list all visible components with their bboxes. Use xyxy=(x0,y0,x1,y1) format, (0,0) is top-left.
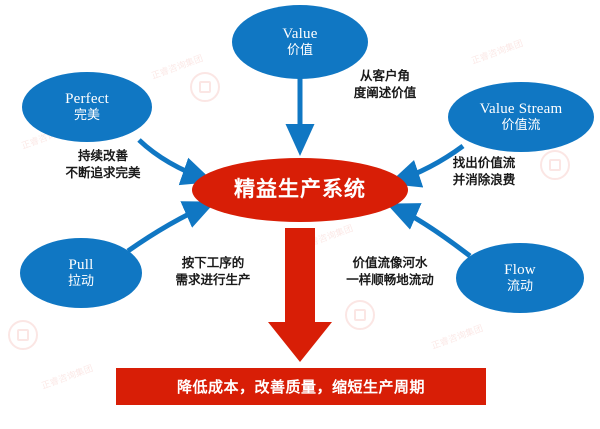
node-pull[interactable]: Pull 拉动 xyxy=(20,238,142,308)
node-perfect[interactable]: Perfect 完美 xyxy=(22,72,152,142)
arrow-pull-to-center xyxy=(128,204,210,251)
node-perfect-en: Perfect xyxy=(65,91,109,108)
node-flow[interactable]: Flow 流动 xyxy=(456,243,584,313)
node-center[interactable]: 精益生产系统 xyxy=(192,158,408,222)
caption-value-stream: 找出价值流 并消除浪费 xyxy=(422,155,546,188)
bottom-banner-label: 降低成本，改善质量，缩短生产周期 xyxy=(177,376,425,397)
arrow-flow-to-center xyxy=(392,206,470,256)
node-flow-cn: 流动 xyxy=(507,280,533,295)
node-center-label: 精益生产系统 xyxy=(234,178,366,202)
node-pull-cn: 拉动 xyxy=(68,275,94,290)
diagram-canvas: 正睿咨询集团 正睿咨询集团 正睿咨询集团 正睿咨询集团 正睿咨询集团 正睿咨询集… xyxy=(0,0,600,429)
node-value-stream[interactable]: Value Stream 价值流 xyxy=(448,82,594,152)
caption-value: 从客户角 度阐述价值 xyxy=(326,68,444,101)
node-value-stream-cn: 价值流 xyxy=(501,119,540,134)
node-value-cn: 价值 xyxy=(287,44,313,59)
node-value-en: Value xyxy=(282,26,317,43)
arrow-center-to-banner xyxy=(268,228,332,362)
node-perfect-cn: 完美 xyxy=(74,109,100,124)
node-flow-en: Flow xyxy=(504,262,536,279)
node-pull-en: Pull xyxy=(69,257,94,274)
caption-flow: 价值流像河水 一样顺畅地流动 xyxy=(318,255,462,288)
bottom-banner: 降低成本，改善质量，缩短生产周期 xyxy=(116,368,486,405)
caption-pull: 按下工序的 需求进行生产 xyxy=(150,255,276,288)
caption-perfect: 持续改善 不断追求完美 xyxy=(38,148,168,181)
node-value-stream-en: Value Stream xyxy=(480,101,563,118)
